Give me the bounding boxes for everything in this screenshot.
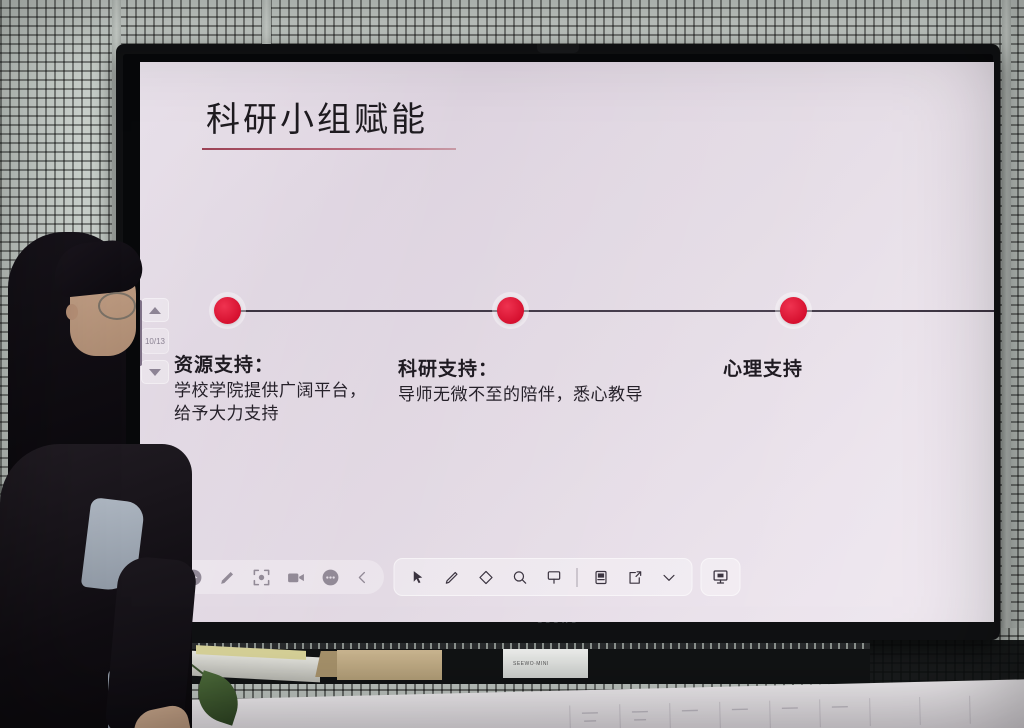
block-body-line1: 导师无微不至的陪伴，悉心教导 xyxy=(398,384,728,407)
timeline-dot-3[interactable] xyxy=(780,297,807,324)
pen-icon[interactable] xyxy=(218,568,237,587)
chevron-down-icon[interactable] xyxy=(654,563,684,591)
exit-presentation-button[interactable] xyxy=(701,558,741,596)
timeline-block-2: 科研支持： 导师无微不至的陪伴，悉心教导 xyxy=(398,354,728,407)
shelf-device-label: SEEWO·MINI xyxy=(513,661,549,667)
export-icon[interactable] xyxy=(620,563,650,591)
collapse-icon[interactable] xyxy=(355,569,370,586)
block-body-line1: 学校学院提供广阔平台， xyxy=(174,380,434,403)
annotation-tool-group[interactable] xyxy=(394,558,693,596)
block-heading: 心理支持 xyxy=(723,354,923,381)
timeline-axis xyxy=(218,310,994,312)
eraser-icon[interactable] xyxy=(471,563,501,591)
annotation-toolbar[interactable] xyxy=(394,558,741,596)
slide-title: 科研小组赋能 xyxy=(206,92,428,141)
wall-seam xyxy=(1002,0,1011,728)
presentation-slide[interactable]: 科研小组赋能 资源支持： 学校学院提供广阔平台， 给予大力支持 科研支持： 导师… xyxy=(140,62,994,622)
presenter xyxy=(0,232,196,728)
spotlight-icon[interactable] xyxy=(539,563,569,591)
block-heading: 资源支持： xyxy=(174,350,434,377)
title-underline xyxy=(202,148,456,150)
camera-module xyxy=(537,44,579,53)
timeline-dot-2[interactable] xyxy=(497,297,524,324)
timeline-block-1: 资源支持： 学校学院提供广阔平台， 给予大力支持 xyxy=(174,350,434,426)
timeline-dot-1[interactable] xyxy=(214,297,241,324)
projection-screen-icon[interactable] xyxy=(706,563,736,591)
presenter-glasses xyxy=(98,292,136,320)
shelf-item-carton xyxy=(337,650,442,680)
block-body-line2: 给予大力支持 xyxy=(174,403,434,426)
presenter-ear xyxy=(66,304,78,320)
presenter-arm xyxy=(104,555,197,728)
record-icon[interactable] xyxy=(286,568,306,587)
presenter-view-icon[interactable] xyxy=(586,563,616,591)
toolbar-divider xyxy=(577,568,578,587)
timeline-block-3: 心理支持 xyxy=(723,354,923,384)
quick-tools-toolbar[interactable] xyxy=(170,560,384,594)
more-icon[interactable] xyxy=(321,568,340,587)
classroom-scene: seewo 科研小组赋能 资源支持： 学校学院提供广阔平台， 给予大力支持 科研… xyxy=(0,0,1024,728)
magnifier-icon[interactable] xyxy=(505,563,535,591)
block-heading: 科研支持： xyxy=(398,354,728,381)
cursor-icon[interactable] xyxy=(403,563,433,591)
screenshot-icon[interactable] xyxy=(252,568,271,587)
screen-glare xyxy=(140,62,994,622)
pen-icon[interactable] xyxy=(437,563,467,591)
